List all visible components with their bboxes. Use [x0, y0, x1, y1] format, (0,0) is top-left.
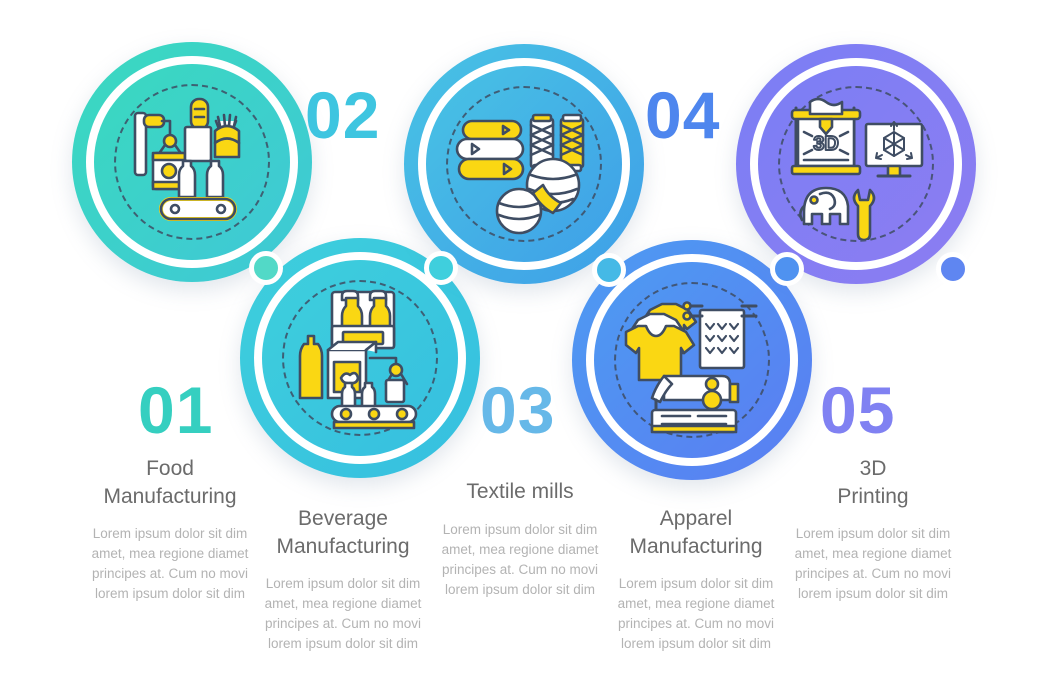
connector-dot-4-5 [770, 252, 804, 286]
step-text-2: Beverage Manufacturing Lorem ipsum dolor… [255, 505, 431, 654]
step-title-3: Textile mills [432, 478, 608, 506]
connector-dot-5-end [936, 252, 970, 286]
step-body-4: Lorem ipsum dolor sit dim amet, mea regi… [608, 574, 784, 654]
step-body-1: Lorem ipsum dolor sit dim amet, mea regi… [82, 524, 258, 604]
3d-printing-icon: 3D [758, 66, 954, 262]
circle-body-1 [94, 64, 290, 260]
step-body-5: Lorem ipsum dolor sit dim amet, mea regi… [785, 524, 961, 604]
beverage-manufacturing-icon [262, 260, 458, 456]
circle-body-5: 3D [758, 66, 954, 262]
textile-mills-icon [426, 66, 622, 262]
step-number-5: 05 [820, 377, 895, 443]
step-title-1: Food Manufacturing [82, 455, 258, 510]
step-number-1: 01 [138, 377, 213, 443]
step-title-line2: Manufacturing [629, 535, 762, 558]
apparel-manufacturing-icon [594, 262, 790, 458]
step-number-2: 02 [305, 82, 380, 148]
step-text-4: Apparel Manufacturing Lorem ipsum dolor … [608, 505, 784, 654]
circle-body-2 [262, 260, 458, 456]
step-number-4: 04 [645, 82, 720, 148]
step-title-line2: Printing [837, 485, 908, 508]
step-title-line1: Food [146, 457, 194, 480]
circle-body-4 [594, 262, 790, 458]
step-text-3: Textile mills Lorem ipsum dolor sit dim … [432, 478, 608, 600]
step-title-2: Beverage Manufacturing [255, 505, 431, 560]
step-title-line1: Beverage [298, 507, 388, 530]
step-title-line1: Apparel [660, 507, 732, 530]
step-title-line1: Textile mills [466, 480, 573, 503]
step-circle-5[interactable]: 3D [736, 44, 976, 284]
circle-body-3 [426, 66, 622, 262]
connector-dot-2-3 [424, 251, 458, 285]
step-title-4: Apparel Manufacturing [608, 505, 784, 560]
step-title-line2: Manufacturing [103, 485, 236, 508]
step-title-line2: Manufacturing [276, 535, 409, 558]
step-title-5: 3D Printing [785, 455, 961, 510]
connector-dot-1-2 [249, 251, 283, 285]
infographic-root: 3D [0, 0, 1044, 700]
step-text-1: Food Manufacturing Lorem ipsum dolor sit… [82, 455, 258, 604]
step-number-3: 03 [480, 377, 555, 443]
step-text-5: 3D Printing Lorem ipsum dolor sit dim am… [785, 455, 961, 604]
step-body-2: Lorem ipsum dolor sit dim amet, mea regi… [255, 574, 431, 654]
food-manufacturing-icon [94, 64, 290, 260]
connector-dot-3-4 [592, 253, 626, 287]
step-title-line1: 3D [860, 457, 887, 480]
step-body-3: Lorem ipsum dolor sit dim amet, mea regi… [432, 520, 608, 600]
svg-text:3D: 3D [813, 133, 839, 155]
